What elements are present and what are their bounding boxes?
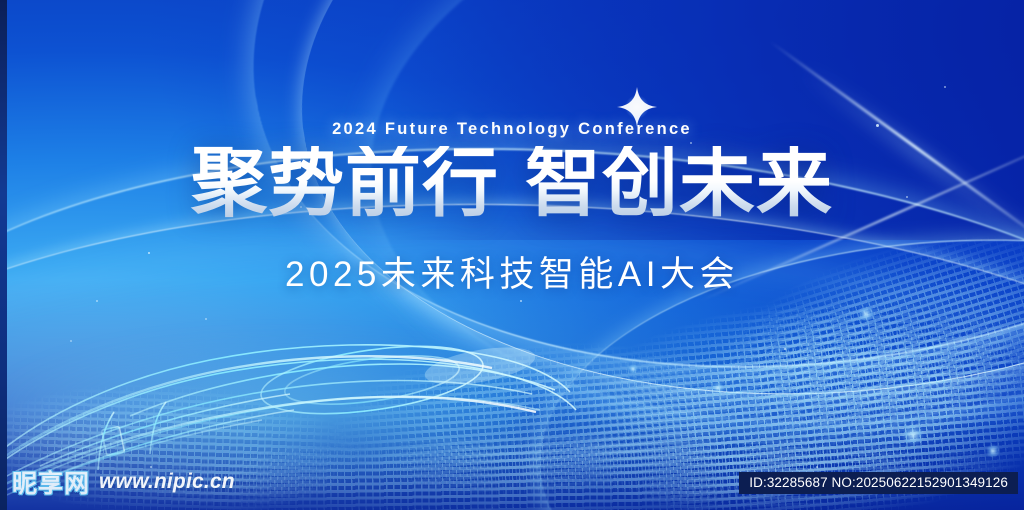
conference-subtitle: 2025未来科技智能AI大会 — [0, 246, 1024, 297]
page-title: 聚势前行智创未来 — [0, 146, 1024, 222]
headline-part-left: 聚势前行 — [191, 141, 499, 226]
headline-part-right: 智创未来 — [525, 141, 833, 226]
conference-eyebrow: 2024 Future Technology Conference — [0, 120, 1024, 139]
watermark-url: www.nipic.cn — [99, 470, 235, 494]
poster-canvas: 2024 Future Technology Conference 聚势前行智创… — [0, 0, 1024, 510]
asset-id-badge: ID:32285687 NO:20250622152901349126 — [739, 472, 1018, 494]
watermark: 昵享网 www.nipic.cn — [12, 464, 235, 500]
watermark-logo: 昵享网 — [12, 464, 90, 500]
